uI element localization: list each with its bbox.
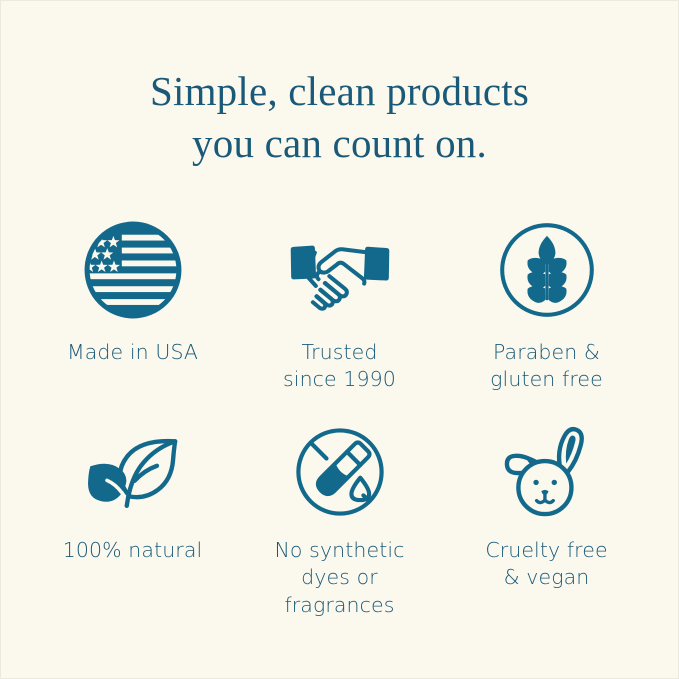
- badge-label: Made in USA: [67, 339, 198, 366]
- rabbit-head-icon: [491, 420, 603, 524]
- badge-label: Cruelty free & vegan: [485, 537, 607, 592]
- no-test-tube-icon: [284, 420, 396, 524]
- badge-100-percent-natural: 100% natural: [29, 420, 236, 619]
- badge-made-in-usa: Made in USA: [29, 214, 236, 394]
- badge-label: Trusted since 1990: [283, 339, 396, 394]
- badge-cruelty-free-vegan: Cruelty free & vegan: [443, 420, 650, 619]
- two-leaves-icon: [77, 420, 189, 524]
- badge-no-synthetic-dyes: No synthetic dyes or fragrances: [236, 420, 443, 619]
- badge-grid: Made in USA: [1, 214, 678, 619]
- badge-paraben-gluten-free: Paraben & gluten free: [443, 214, 650, 394]
- usa-flag-circle-icon: [77, 214, 189, 326]
- badge-label: No synthetic dyes or fragrances: [274, 537, 404, 619]
- wheat-stalk-circle-icon: [491, 214, 603, 326]
- page-title: Simple, clean products you can count on.: [110, 65, 569, 170]
- product-claims-infographic: Simple, clean products you can count on.: [0, 0, 679, 679]
- badge-trusted-since-1990: Trusted since 1990: [236, 214, 443, 394]
- badge-label: 100% natural: [63, 537, 203, 564]
- handshake-icon: [284, 214, 396, 326]
- badge-label: Paraben & gluten free: [490, 339, 603, 394]
